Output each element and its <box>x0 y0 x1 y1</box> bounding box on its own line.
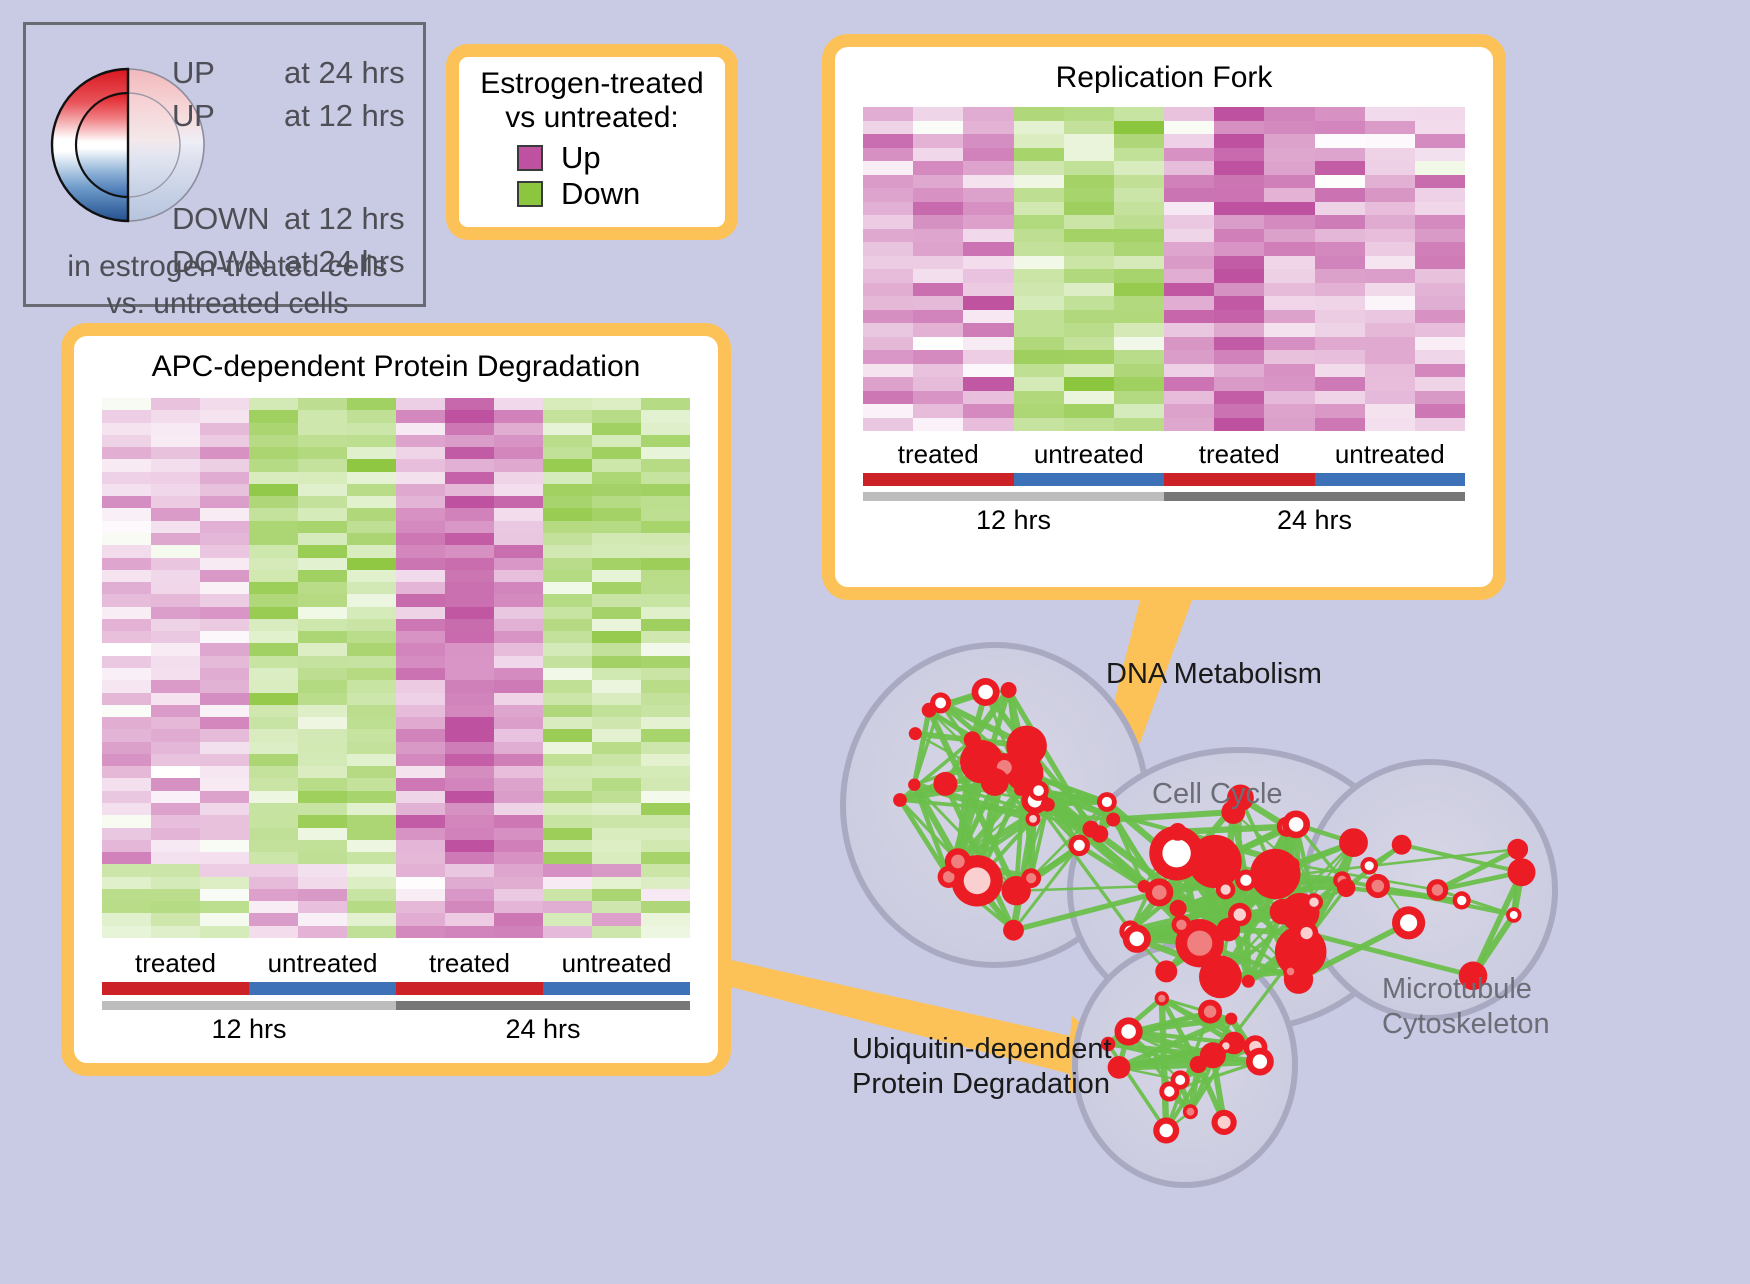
network-node[interactable] <box>1295 921 1318 944</box>
heatmap-cell <box>543 447 592 459</box>
heatmap-cell <box>1415 404 1465 418</box>
network-node[interactable] <box>1172 915 1192 935</box>
heatmap-cell <box>445 840 494 852</box>
heatmap-cell <box>1014 323 1064 337</box>
heatmap-cell <box>1164 242 1214 256</box>
heatmap-cell <box>494 913 543 925</box>
network-node[interactable] <box>1392 835 1412 855</box>
heatmap-cell <box>963 283 1013 297</box>
node-core <box>1187 1108 1195 1116</box>
network-svg <box>790 600 1750 1279</box>
node-outer-ring <box>1270 899 1296 925</box>
heatmap-cell <box>1114 215 1164 229</box>
heatmap-cell <box>200 913 249 925</box>
heatmap-cell <box>1365 391 1415 405</box>
heatmap-cell <box>1415 364 1465 378</box>
node-core <box>1102 797 1112 807</box>
network-node[interactable] <box>1212 1110 1237 1135</box>
heatmap-cell <box>592 484 641 496</box>
heatmap-cell <box>913 350 963 364</box>
network-node[interactable] <box>1199 956 1242 999</box>
heatmap-cell <box>641 496 690 508</box>
heatmap-cell <box>494 607 543 619</box>
node-core <box>978 685 993 700</box>
network-node[interactable] <box>1270 899 1296 925</box>
network-node[interactable] <box>1171 1070 1190 1089</box>
heatmap-cell <box>347 877 396 889</box>
heatmap-cell <box>445 521 494 533</box>
network-node[interactable] <box>945 848 971 874</box>
node-outer-ring <box>981 768 1009 796</box>
heatmap-cell <box>298 864 347 876</box>
network-node[interactable] <box>1028 781 1048 801</box>
heatmap-cell <box>151 729 200 741</box>
heatmap-cell <box>347 545 396 557</box>
heatmap-cell <box>641 693 690 705</box>
heatmap-cell <box>1365 121 1415 135</box>
heatmap-cell <box>396 558 445 570</box>
time-color-segment <box>863 492 1164 501</box>
heatmap-cell <box>200 631 249 643</box>
network-node[interactable] <box>1153 1118 1179 1144</box>
network-node[interactable] <box>1305 893 1323 911</box>
heatmap-cell <box>494 533 543 545</box>
network-node[interactable] <box>1360 857 1378 875</box>
heatmap-cell <box>298 558 347 570</box>
heatmap-cell <box>102 926 151 938</box>
heatmap-cell <box>641 410 690 422</box>
heatmap-cell <box>592 570 641 582</box>
heatmap-cell <box>396 545 445 557</box>
network-node[interactable] <box>1026 811 1041 826</box>
heatmap-cell <box>543 766 592 778</box>
heatmap-cell <box>445 705 494 717</box>
heatmap-cell <box>151 828 200 840</box>
heatmap-cell <box>200 668 249 680</box>
heatmap-cell <box>249 803 298 815</box>
replication-fork-sample-colorbar <box>863 473 1465 486</box>
network-node[interactable] <box>1003 920 1024 941</box>
heatmap-cell <box>396 656 445 668</box>
heatmap-cell <box>494 791 543 803</box>
node-core <box>951 855 965 869</box>
key-direction: DOWN <box>172 201 284 237</box>
heatmap-cell <box>396 423 445 435</box>
heatmap-cell <box>298 533 347 545</box>
network-node[interactable] <box>1283 964 1298 979</box>
heatmap-cell <box>1365 296 1415 310</box>
network-node[interactable] <box>1453 891 1471 909</box>
heatmap-cell <box>102 815 151 827</box>
heatmap-cell <box>298 410 347 422</box>
heatmap-cell <box>863 161 913 175</box>
heatmap-cell <box>102 472 151 484</box>
heatmap-cell <box>102 423 151 435</box>
network-node[interactable] <box>1286 858 1300 872</box>
heatmap-cell <box>1064 418 1114 432</box>
heatmap-cell <box>151 791 200 803</box>
heatmap-cell <box>543 656 592 668</box>
heatmap-cell <box>1415 161 1465 175</box>
network-node[interactable] <box>972 678 1000 706</box>
heatmap-cell <box>396 778 445 790</box>
heatmap-cell <box>494 705 543 717</box>
network-node[interactable] <box>1106 813 1120 827</box>
heatmap-cell <box>1114 188 1164 202</box>
heatmap-cell <box>249 680 298 692</box>
heatmap-cell <box>1264 188 1314 202</box>
heatmap-cell <box>249 791 298 803</box>
heatmap-cell <box>641 619 690 631</box>
heatmap-cell <box>347 828 396 840</box>
heatmap-cell <box>102 889 151 901</box>
heatmap-cell <box>543 778 592 790</box>
heatmap-cell <box>102 803 151 815</box>
node-core <box>1033 785 1044 796</box>
heatmap-cell <box>1264 391 1314 405</box>
heatmap-cell <box>102 582 151 594</box>
network-node[interactable] <box>1190 1056 1207 1073</box>
node-core <box>1204 1005 1216 1017</box>
heatmap-cell <box>1315 215 1365 229</box>
heatmap-cell <box>151 705 200 717</box>
heatmap-cell <box>298 398 347 410</box>
network-node[interactable] <box>1115 1017 1143 1045</box>
heatmap-cell <box>494 484 543 496</box>
cluster-label-microtubule-line-2: Cytoskeleton <box>1382 1007 1550 1042</box>
network-node[interactable] <box>1014 784 1026 796</box>
heatmap-cell <box>1114 283 1164 297</box>
heatmap-cell <box>347 803 396 815</box>
heatmap-cell <box>641 877 690 889</box>
heatmap-cell <box>1114 337 1164 351</box>
heatmap-cell <box>863 121 913 135</box>
heatmap-cell <box>445 901 494 913</box>
heatmap-cell <box>592 607 641 619</box>
heatmap-cell <box>1014 296 1064 310</box>
apc-sample-labels: treated untreated treated untreated <box>102 948 690 979</box>
apc-panel: APC-dependent Protein Degradation treate… <box>61 323 731 1076</box>
heatmap-cell <box>347 778 396 790</box>
heatmap-cell <box>200 447 249 459</box>
heatmap-cell <box>1315 188 1365 202</box>
heatmap-cell <box>863 148 913 162</box>
heatmap-cell <box>347 852 396 864</box>
network-node[interactable] <box>1392 906 1425 939</box>
heatmap-cell <box>445 766 494 778</box>
heatmap-cell <box>543 582 592 594</box>
heatmap-cell <box>445 742 494 754</box>
heatmap-cell <box>641 742 690 754</box>
heatmap-cell <box>1014 161 1064 175</box>
heatmap-cell <box>298 447 347 459</box>
heatmap-cell <box>249 447 298 459</box>
heatmap-cell <box>396 410 445 422</box>
heatmap-cell <box>1064 256 1114 270</box>
heatmap-cell <box>592 864 641 876</box>
heatmap-cell <box>1064 296 1114 310</box>
heatmap-cell <box>641 766 690 778</box>
heatmap-cell <box>1264 364 1314 378</box>
apc-sample-colorbar <box>102 982 690 995</box>
heatmap-cell <box>445 607 494 619</box>
heatmap-cell <box>641 656 690 668</box>
heatmap-cell <box>102 717 151 729</box>
heatmap-cell <box>151 668 200 680</box>
network-node[interactable] <box>1155 960 1177 982</box>
network-node[interactable] <box>981 768 1009 796</box>
network-node[interactable] <box>893 793 907 807</box>
heatmap-cell <box>641 680 690 692</box>
heatmap-cell <box>151 619 200 631</box>
heatmap-cell <box>347 484 396 496</box>
heatmap-cell <box>200 717 249 729</box>
heatmap-cell <box>200 852 249 864</box>
network-node[interactable] <box>1091 825 1108 842</box>
network-node[interactable] <box>1506 907 1521 922</box>
heatmap-cell <box>592 828 641 840</box>
heatmap-cell <box>249 889 298 901</box>
apc-title: APC-dependent Protein Degradation <box>74 350 718 384</box>
heatmap-cell <box>102 435 151 447</box>
node-core <box>1029 815 1037 823</box>
network-node[interactable] <box>909 727 922 740</box>
heatmap-cell <box>347 680 396 692</box>
network-node[interactable] <box>1246 1048 1274 1076</box>
heatmap-cell <box>396 742 445 754</box>
node-outer-ring <box>1225 1013 1237 1025</box>
network-node[interactable] <box>964 731 981 748</box>
heatmap-cell <box>102 607 151 619</box>
heatmap-cell <box>1264 283 1314 297</box>
heatmap-cell <box>1214 256 1264 270</box>
heatmap-cell <box>592 729 641 741</box>
heatmap-cell <box>298 435 347 447</box>
heatmap-cell <box>1264 202 1314 216</box>
heatmap-cell <box>396 754 445 766</box>
network-node[interactable] <box>1021 868 1041 888</box>
heatmap-cell <box>249 472 298 484</box>
heatmap-cell <box>151 680 200 692</box>
network-node[interactable] <box>1068 835 1090 857</box>
heatmap-cell <box>913 134 963 148</box>
heatmap-cell <box>1365 323 1415 337</box>
heatmap-cell <box>200 607 249 619</box>
heatmap-cell <box>592 717 641 729</box>
network-node[interactable] <box>1145 878 1173 906</box>
heatmap-cell <box>641 545 690 557</box>
heatmap-cell <box>641 668 690 680</box>
network-node[interactable] <box>908 779 920 791</box>
node-outer-ring <box>1169 823 1187 841</box>
heatmap-cell <box>1064 161 1114 175</box>
heatmap-cell <box>1014 229 1064 243</box>
heatmap-cell <box>494 766 543 778</box>
heatmap-cell <box>543 410 592 422</box>
heatmap-cell <box>1365 337 1415 351</box>
heatmap-cell <box>1214 404 1264 418</box>
heatmap-cell <box>396 803 445 815</box>
heatmap-cell <box>396 643 445 655</box>
heatmap-cell <box>494 472 543 484</box>
network-node[interactable] <box>1337 879 1355 897</box>
heatmap-cell <box>641 594 690 606</box>
heatmap-cell <box>396 521 445 533</box>
heatmap-cell <box>396 631 445 643</box>
heatmap-cell <box>592 423 641 435</box>
heatmap-cell <box>151 508 200 520</box>
heatmap-cell <box>494 570 543 582</box>
heatmap-cell <box>151 815 200 827</box>
heatmap-cell <box>592 680 641 692</box>
network-node[interactable] <box>1508 858 1536 886</box>
heatmap-cell <box>347 582 396 594</box>
heatmap-cell <box>1214 269 1264 283</box>
heatmap-cell <box>249 643 298 655</box>
heatmap-cell <box>494 496 543 508</box>
heatmap-cell <box>494 459 543 471</box>
heatmap-cell <box>592 693 641 705</box>
legend-label-up: Up <box>561 140 601 176</box>
network-node[interactable] <box>1235 870 1256 891</box>
heatmap-cell <box>298 619 347 631</box>
network-node[interactable] <box>933 772 957 796</box>
network-node[interactable] <box>1097 792 1117 812</box>
network-node[interactable] <box>1123 925 1151 953</box>
network-node[interactable] <box>1507 839 1528 860</box>
heatmap-cell <box>151 582 200 594</box>
network-node[interactable] <box>1155 991 1169 1005</box>
cluster-label-ubiquitin: Ubiquitin-dependent Protein Degradation <box>852 1032 1112 1103</box>
network-node[interactable] <box>1216 880 1236 900</box>
sample-color-segment <box>543 982 690 995</box>
node-outer-ring <box>1190 1056 1207 1073</box>
network-node[interactable] <box>1001 682 1017 698</box>
heatmap-cell <box>151 533 200 545</box>
node-outer-ring <box>1199 956 1242 999</box>
heatmap-cell <box>1415 148 1465 162</box>
heatmap-cell <box>1264 148 1314 162</box>
heatmap-cell <box>543 459 592 471</box>
heatmap-cell <box>200 435 249 447</box>
heatmap-cell <box>592 545 641 557</box>
heatmap-cell <box>445 680 494 692</box>
heatmap-cell <box>641 717 690 729</box>
network-node[interactable] <box>1225 1013 1237 1025</box>
heatmap-cell <box>200 729 249 741</box>
heatmap-cell <box>298 521 347 533</box>
heatmap-cell <box>1214 377 1264 391</box>
heatmap-cell <box>963 161 1013 175</box>
node-core <box>1301 927 1313 939</box>
network-node[interactable] <box>1170 900 1187 917</box>
sample-color-segment <box>1014 473 1165 486</box>
network-node[interactable] <box>1183 1104 1198 1119</box>
node-core <box>1175 1075 1185 1085</box>
heatmap-cell <box>249 754 298 766</box>
heatmap-cell <box>102 521 151 533</box>
heatmap-cell <box>1365 175 1415 189</box>
heatmap-cell <box>396 717 445 729</box>
heatmap-cell <box>249 877 298 889</box>
sample-color-segment <box>249 982 396 995</box>
heatmap-cell <box>1164 377 1214 391</box>
heatmap-cell <box>151 643 200 655</box>
heatmap-cell <box>151 447 200 459</box>
heatmap-cell <box>347 742 396 754</box>
heatmap-cell <box>963 188 1013 202</box>
heatmap-cell <box>445 558 494 570</box>
network-node[interactable] <box>1427 879 1449 901</box>
heatmap-cell <box>641 484 690 496</box>
heatmap-cell <box>1064 323 1114 337</box>
network-node[interactable] <box>1282 811 1310 839</box>
heatmap-cell <box>445 864 494 876</box>
heatmap-cell <box>347 410 396 422</box>
heatmap-cell <box>1064 134 1114 148</box>
network-diagram: DNA Metabolism Cell Cycle Microtubule Cy… <box>790 600 1750 1279</box>
network-node[interactable] <box>930 692 951 713</box>
heatmap-cell <box>1164 404 1214 418</box>
heatmap-cell <box>963 107 1013 121</box>
heatmap-cell <box>102 631 151 643</box>
heatmap-cell <box>1214 418 1264 432</box>
replication-fork-timebar <box>863 492 1465 501</box>
color-key-row: DOWN at 12 hrs <box>172 201 422 244</box>
heatmap-cell <box>347 705 396 717</box>
heatmap-cell <box>963 323 1013 337</box>
heatmap-cell <box>347 766 396 778</box>
heatmap-cell <box>1315 256 1365 270</box>
heatmap-cell <box>249 398 298 410</box>
heatmap-cell <box>1164 364 1214 378</box>
network-node[interactable] <box>1198 1000 1222 1024</box>
heatmap-cell <box>102 766 151 778</box>
heatmap-cell <box>200 410 249 422</box>
network-node[interactable] <box>1228 903 1252 927</box>
heatmap-cell <box>445 447 494 459</box>
network-node[interactable] <box>1366 874 1390 898</box>
network-node[interactable] <box>1169 823 1187 841</box>
heatmap-cell <box>249 558 298 570</box>
heatmap-cell <box>863 242 913 256</box>
heatmap-cell <box>445 423 494 435</box>
heatmap-cell <box>963 121 1013 135</box>
apc-timebar <box>102 1001 690 1010</box>
heatmap-cell <box>445 803 494 815</box>
heatmap-cell <box>347 926 396 938</box>
heatmap-cell <box>347 864 396 876</box>
heatmap-cell <box>298 742 347 754</box>
network-node[interactable] <box>1250 849 1300 899</box>
network-node[interactable] <box>1339 828 1368 857</box>
heatmap-cell <box>963 350 1013 364</box>
key-direction: UP <box>172 55 284 91</box>
heatmap-cell <box>1214 121 1264 135</box>
heatmap-cell <box>494 729 543 741</box>
heatmap-cell <box>543 926 592 938</box>
heatmap-cell <box>347 656 396 668</box>
heatmap-cell <box>1164 296 1214 310</box>
heatmap-cell <box>592 791 641 803</box>
heatmap-cell <box>151 472 200 484</box>
heatmap-cell <box>1264 229 1314 243</box>
heatmap-cell <box>543 791 592 803</box>
network-node[interactable] <box>1242 975 1255 988</box>
heatmap-cell <box>1014 364 1064 378</box>
heatmap-cell <box>1214 134 1264 148</box>
heatmap-cell <box>1315 323 1365 337</box>
